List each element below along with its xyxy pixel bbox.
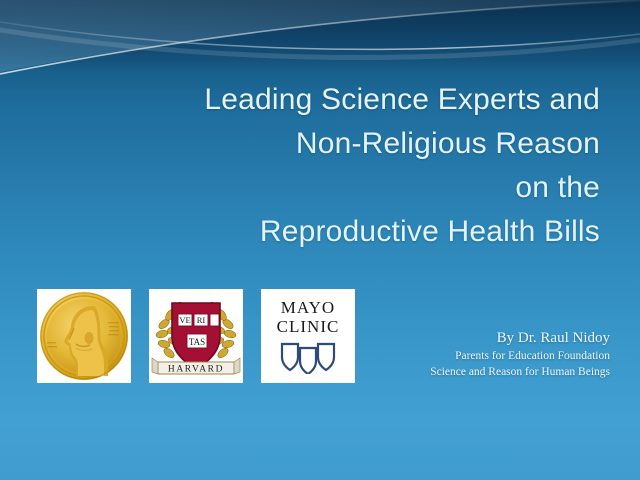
title-line-4: Reproductive Health Bills [40,210,600,254]
author-name: By Dr. Raul Nidoy [430,328,610,348]
mayo-line-1: MAYO [277,299,340,316]
mayo-line-2: CLINIC [277,318,340,335]
swoosh-curve-3 [0,30,640,58]
mayo-clinic-wordmark: MAYO CLINIC [277,299,340,335]
harvard-shield-icon: VE RI TAS HARVARD [150,290,242,382]
slide-title: Leading Science Experts and Non-Religiou… [40,78,600,254]
author-org-line-1: Parents for Education Foundation [430,348,610,364]
harvard-motto-tas: TAS [189,337,205,347]
logo-harvard-shield: VE RI TAS HARVARD [149,289,243,383]
title-line-1: Leading Science Experts and [40,78,600,122]
author-org-line-2: Science and Reason for Human Beings [430,364,610,380]
mayo-three-shields-icon [278,340,338,374]
harvard-motto-ri: RI [197,315,206,325]
swoosh-fill-upper [0,0,640,72]
harvard-banner-text: HARVARD [168,365,224,375]
logo-row: VE RI TAS HARVARD MAYO CLINIC [37,289,355,383]
author-block: By Dr. Raul Nidoy Parents for Education … [430,328,610,380]
presentation-slide: Leading Science Experts and Non-Religiou… [0,0,640,480]
logo-nobel-prize-medal [37,289,131,383]
logo-mayo-clinic: MAYO CLINIC [261,289,355,383]
header-band [0,0,640,72]
nobel-prize-medal-icon [38,290,130,382]
title-line-2: Non-Religious Reason [40,122,600,166]
swoosh-curve-2 [0,22,640,49]
harvard-motto-ve: VE [179,315,190,325]
title-line-3: on the [40,166,600,210]
swoosh-curve-1 [0,0,640,74]
